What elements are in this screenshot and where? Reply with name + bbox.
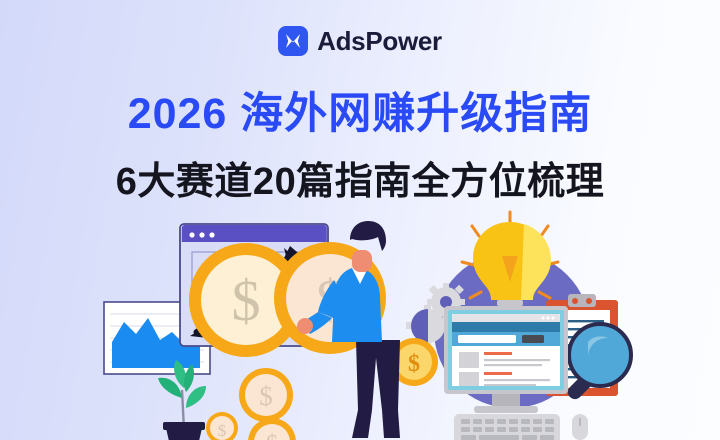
page-subtitle: 6大赛道20篇指南全方位梳理 bbox=[0, 163, 720, 203]
magnifying-glass-icon bbox=[568, 324, 631, 399]
svg-text:$: $ bbox=[259, 381, 273, 411]
keyboard-icon bbox=[454, 414, 560, 440]
page-title: 2026 海外网赚升级指南 bbox=[0, 92, 720, 137]
dollar-coin-medium-2: $ bbox=[248, 418, 296, 440]
dollar-coin-medium-1: $ bbox=[239, 368, 293, 422]
mouse-icon bbox=[572, 414, 588, 440]
svg-text:$: $ bbox=[232, 268, 261, 333]
svg-text:$: $ bbox=[408, 351, 420, 377]
dollar-coin-small-1: $ bbox=[206, 412, 238, 440]
svg-text:$: $ bbox=[218, 421, 227, 440]
svg-text:$: $ bbox=[266, 431, 278, 440]
brand-name: AdsPower bbox=[317, 28, 442, 54]
promo-banner: AdsPower 2026 海外网赚升级指南 6大赛道20篇指南全方位梳理 bbox=[0, 0, 720, 440]
adspower-butterfly-logo-icon bbox=[278, 26, 308, 56]
brand-lockup: AdsPower bbox=[0, 26, 720, 56]
online-money-making-illustration: $ bbox=[0, 210, 720, 440]
